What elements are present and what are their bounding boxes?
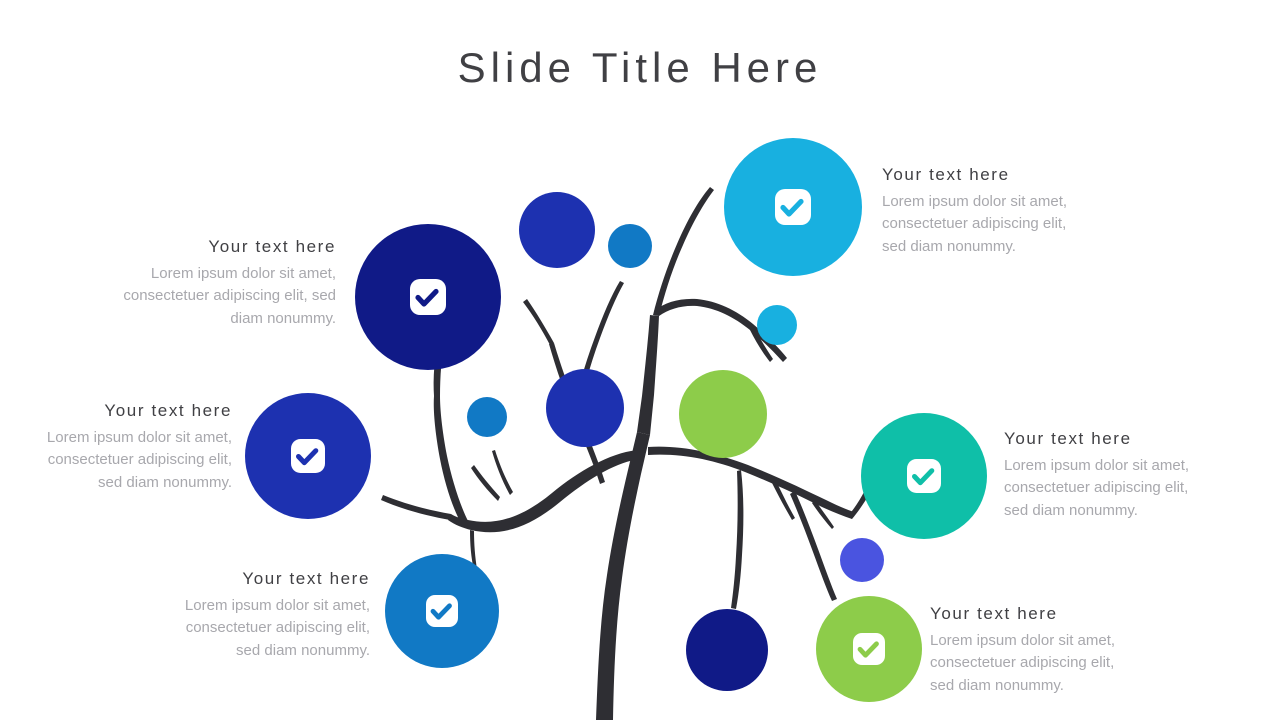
callout-body: Lorem ipsum dolor sit amet, consectetuer… xyxy=(930,630,1180,698)
callout-title: Your text here xyxy=(74,236,336,259)
badge-circle-middle-left[interactable] xyxy=(245,393,371,519)
callout-title: Your text here xyxy=(1004,428,1254,451)
decor-circle-royal-top xyxy=(519,192,595,268)
badge-circle-top-right[interactable] xyxy=(724,138,862,276)
callout-title: Your text here xyxy=(130,568,370,591)
callout-bottom-left: Your text here Lorem ipsum dolor sit ame… xyxy=(130,568,370,662)
callout-title: Your text here xyxy=(882,164,1132,187)
decor-circle-blue-small-top xyxy=(608,224,652,268)
callout-title: Your text here xyxy=(0,400,232,423)
callout-bottom-right: Your text here Lorem ipsum dolor sit ame… xyxy=(930,603,1180,697)
decor-circle-cyan-small xyxy=(757,305,797,345)
badge-circle-top-left[interactable] xyxy=(355,224,501,370)
callout-body: Lorem ipsum dolor sit amet, consectetuer… xyxy=(130,595,370,663)
decor-circle-green-mid xyxy=(679,370,767,458)
callout-body: Lorem ipsum dolor sit amet, consectetuer… xyxy=(882,191,1132,259)
decor-circle-blue-small-left xyxy=(467,397,507,437)
callout-body: Lorem ipsum dolor sit amet, consectetuer… xyxy=(1004,455,1254,523)
callout-middle-left: Your text here Lorem ipsum dolor sit ame… xyxy=(0,400,232,494)
slide-canvas: Slide Title Here Your text here Lorem ip… xyxy=(0,0,1280,720)
callout-title: Your text here xyxy=(930,603,1180,626)
badge-circle-bottom-right[interactable] xyxy=(816,596,922,702)
decor-circle-violet-small xyxy=(840,538,884,582)
callout-body: Lorem ipsum dolor sit amet, consectetuer… xyxy=(74,263,336,331)
callout-middle-right: Your text here Lorem ipsum dolor sit ame… xyxy=(1004,428,1254,522)
badge-circle-middle-right[interactable] xyxy=(861,413,987,539)
callout-body: Lorem ipsum dolor sit amet, consectetuer… xyxy=(0,427,232,495)
callout-top-left: Your text here Lorem ipsum dolor sit ame… xyxy=(74,236,336,330)
decor-circle-royal-mid xyxy=(546,369,624,447)
decor-circle-navy-bottom xyxy=(686,609,768,691)
page-title: Slide Title Here xyxy=(0,44,1280,92)
callout-top-right: Your text here Lorem ipsum dolor sit ame… xyxy=(882,164,1132,258)
badge-circle-bottom-left[interactable] xyxy=(385,554,499,668)
